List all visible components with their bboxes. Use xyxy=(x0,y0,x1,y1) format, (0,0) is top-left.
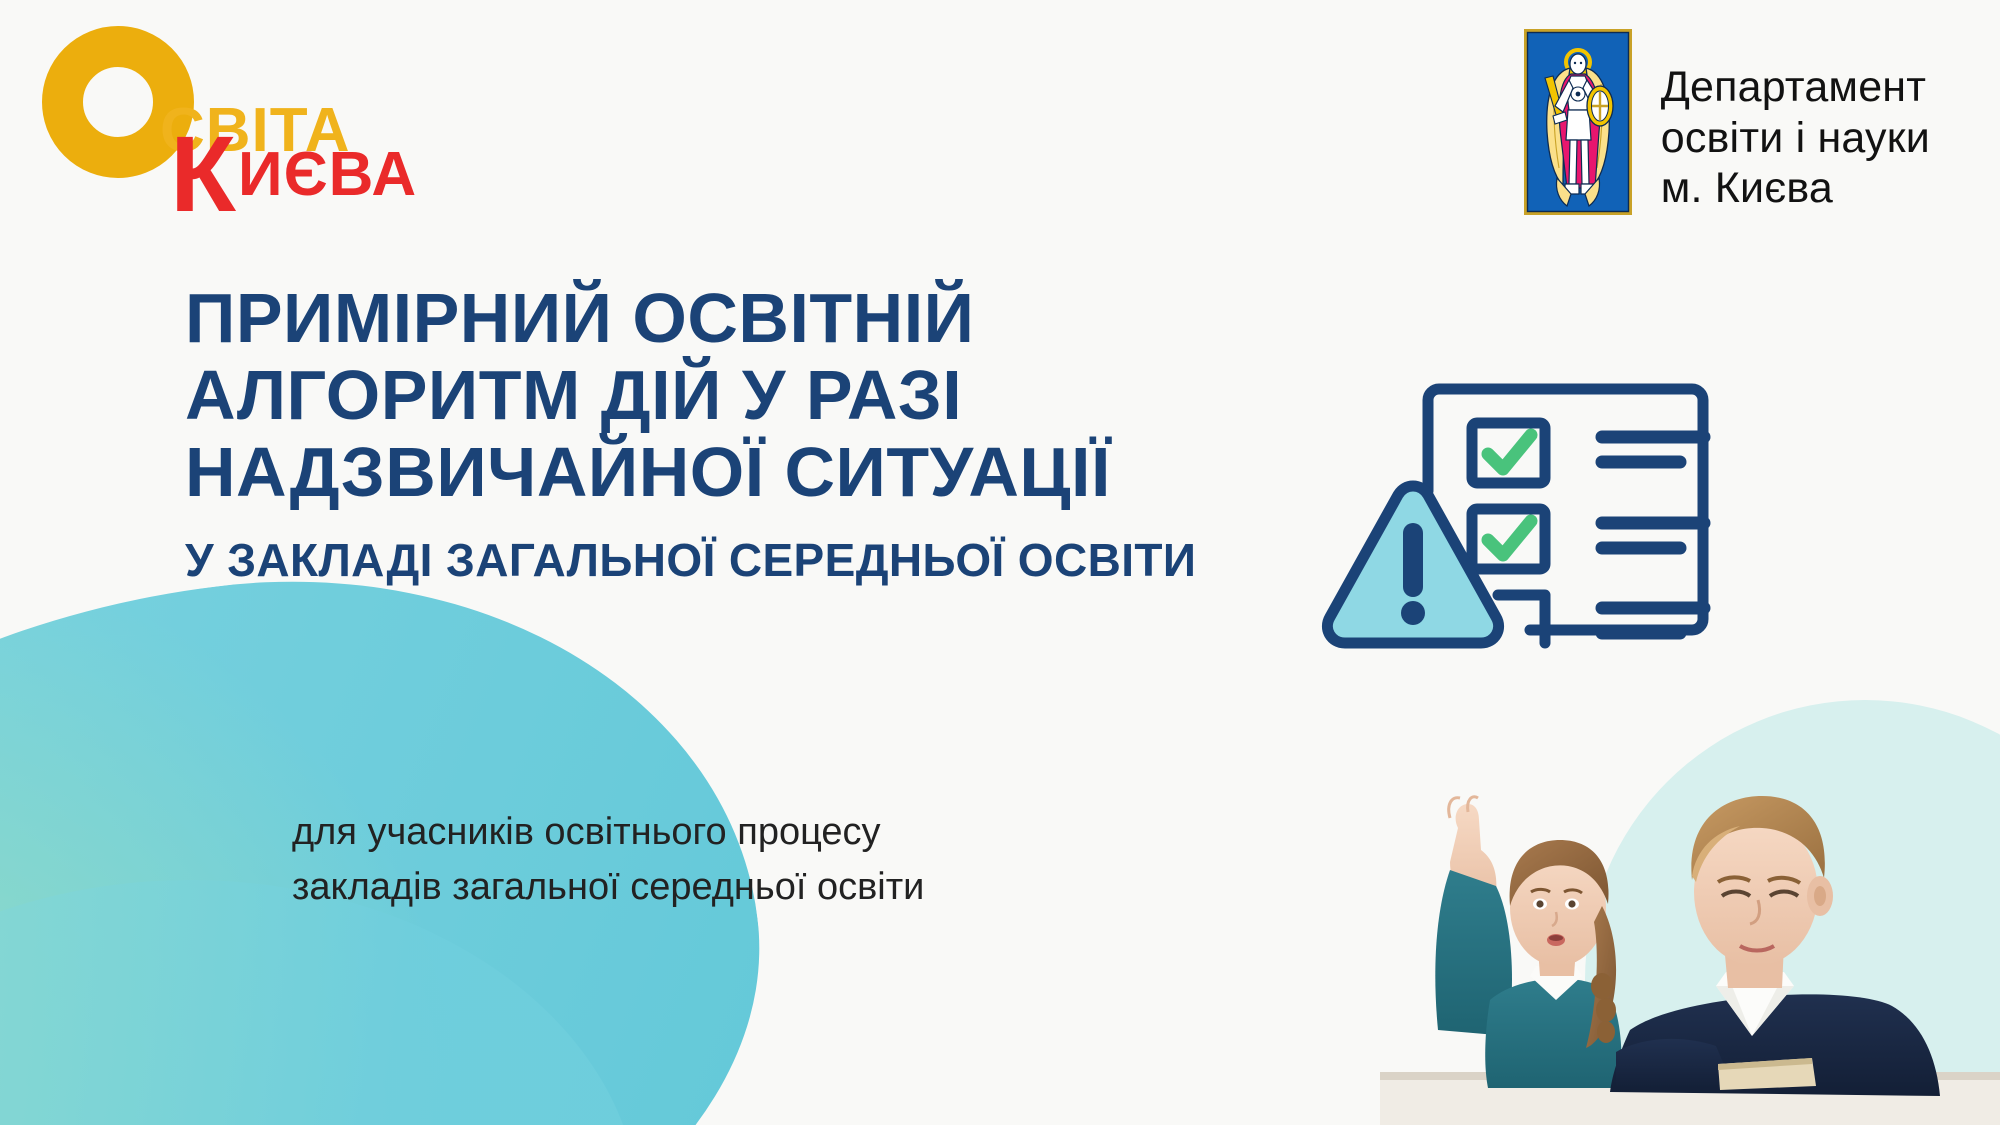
audience-note-line-1: для учасників освітнього процесу xyxy=(292,805,924,860)
page-title-line-3: НАДЗВИЧАЙНОЇ СИТУАЦІЇ xyxy=(185,434,1365,511)
department-name: Департамент освіти і науки м. Києва xyxy=(1661,28,1930,214)
page-subtitle: У ЗАКЛАДІ ЗАГАЛЬНОЇ СЕРЕДНЬОЇ ОСВІТИ xyxy=(185,533,1215,587)
osvita-kyieva-logo: СВІТА К ИЄВА xyxy=(42,22,462,202)
student-girl xyxy=(1435,797,1621,1088)
check-mark-icon xyxy=(1488,435,1531,555)
audience-note-line-2: закладів загальної середньої освіти xyxy=(292,860,924,915)
department-block: Департамент освіти і науки м. Києва xyxy=(1523,28,1930,216)
logo-letter-k: К xyxy=(170,130,236,219)
department-line-2: освіти і науки xyxy=(1661,113,1930,164)
slide-canvas: СВІТА К ИЄВА xyxy=(0,0,2000,1125)
page-title: ПРИМІРНИЙ ОСВІТНІЙ АЛГОРИТМ ДІЙ У РАЗІ Н… xyxy=(185,280,1365,511)
page-title-line-1: ПРИМІРНИЙ ОСВІТНІЙ xyxy=(185,280,1365,357)
page-title-line-2: АЛГОРИТМ ДІЙ У РАЗІ xyxy=(185,357,1365,434)
checklist-warning-illustration xyxy=(1320,355,1750,655)
students-in-classroom-photo xyxy=(1380,700,2000,1125)
department-line-1: Департамент xyxy=(1661,62,1930,113)
department-line-3: м. Києва xyxy=(1661,163,1930,214)
title-block: ПРИМІРНИЙ ОСВІТНІЙ АЛГОРИТМ ДІЙ У РАЗІ Н… xyxy=(185,280,1365,587)
kyiv-coat-of-arms xyxy=(1523,28,1633,216)
student-boy xyxy=(1610,796,1940,1096)
logo-word-kyieva: ИЄВА xyxy=(238,144,417,206)
audience-note: для учасників освітнього процесу закладі… xyxy=(292,805,924,916)
